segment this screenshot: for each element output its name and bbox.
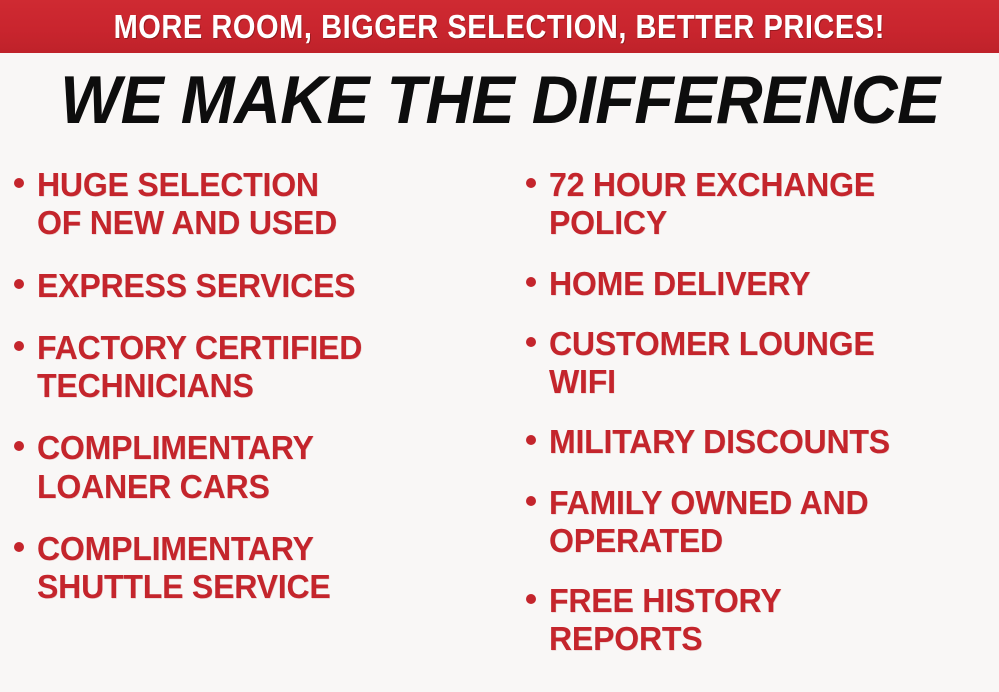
promo-banner-text: MORE ROOM, BIGGER SELECTION, BETTER PRIC… [114, 10, 885, 43]
list-item: CUSTOMER LOUNGE WIFI [526, 325, 999, 402]
list-item-label: 72 HOUR EXCHANGE POLICY [549, 166, 875, 243]
bullet-dot-icon [526, 435, 536, 445]
list-item-label: COMPLIMENTARY SHUTTLE SERVICE [37, 530, 331, 607]
benefits-column-left: HUGE SELECTION OF NEW AND USED EXPRESS S… [0, 152, 512, 692]
bullet-dot-icon [14, 279, 24, 289]
list-item-label: COMPLIMENTARY LOANER CARS [37, 429, 314, 506]
list-item-label: EXPRESS SERVICES [37, 267, 355, 305]
bullet-dot-icon [14, 441, 24, 451]
list-item: EXPRESS SERVICES [14, 267, 512, 305]
list-item: COMPLIMENTARY LOANER CARS [14, 429, 512, 506]
list-item: FREE HISTORY REPORTS [526, 582, 999, 659]
bullet-dot-icon [526, 594, 536, 604]
promo-banner: MORE ROOM, BIGGER SELECTION, BETTER PRIC… [0, 0, 999, 53]
list-item-label: HOME DELIVERY [549, 265, 810, 303]
benefits-column-right: 72 HOUR EXCHANGE POLICY HOME DELIVERY CU… [512, 152, 999, 692]
list-item: COMPLIMENTARY SHUTTLE SERVICE [14, 530, 512, 607]
bullet-dot-icon [14, 542, 24, 552]
bullet-dot-icon [14, 178, 24, 188]
bullet-dot-icon [526, 337, 536, 347]
list-item-label: FREE HISTORY REPORTS [549, 582, 781, 659]
list-item: FAMILY OWNED AND OPERATED [526, 484, 999, 561]
bullet-dot-icon [526, 277, 536, 287]
bullet-dot-icon [526, 496, 536, 506]
list-item-label: MILITARY DISCOUNTS [549, 423, 890, 461]
page-title: WE MAKE THE DIFFERENCE [60, 66, 940, 134]
bullet-dot-icon [14, 341, 24, 351]
list-item: MILITARY DISCOUNTS [526, 423, 999, 461]
list-item-label: FACTORY CERTIFIED TECHNICIANS [37, 329, 362, 406]
bullet-dot-icon [526, 178, 536, 188]
list-item: 72 HOUR EXCHANGE POLICY [526, 166, 999, 243]
benefits-columns: HUGE SELECTION OF NEW AND USED EXPRESS S… [0, 152, 999, 692]
list-item: HUGE SELECTION OF NEW AND USED [14, 166, 512, 243]
list-item: FACTORY CERTIFIED TECHNICIANS [14, 329, 512, 406]
list-item-label: FAMILY OWNED AND OPERATED [549, 484, 868, 561]
headline-container: WE MAKE THE DIFFERENCE [0, 62, 999, 138]
list-item-label: HUGE SELECTION OF NEW AND USED [37, 166, 337, 243]
list-item-label: CUSTOMER LOUNGE WIFI [549, 325, 875, 402]
list-item: HOME DELIVERY [526, 265, 999, 303]
